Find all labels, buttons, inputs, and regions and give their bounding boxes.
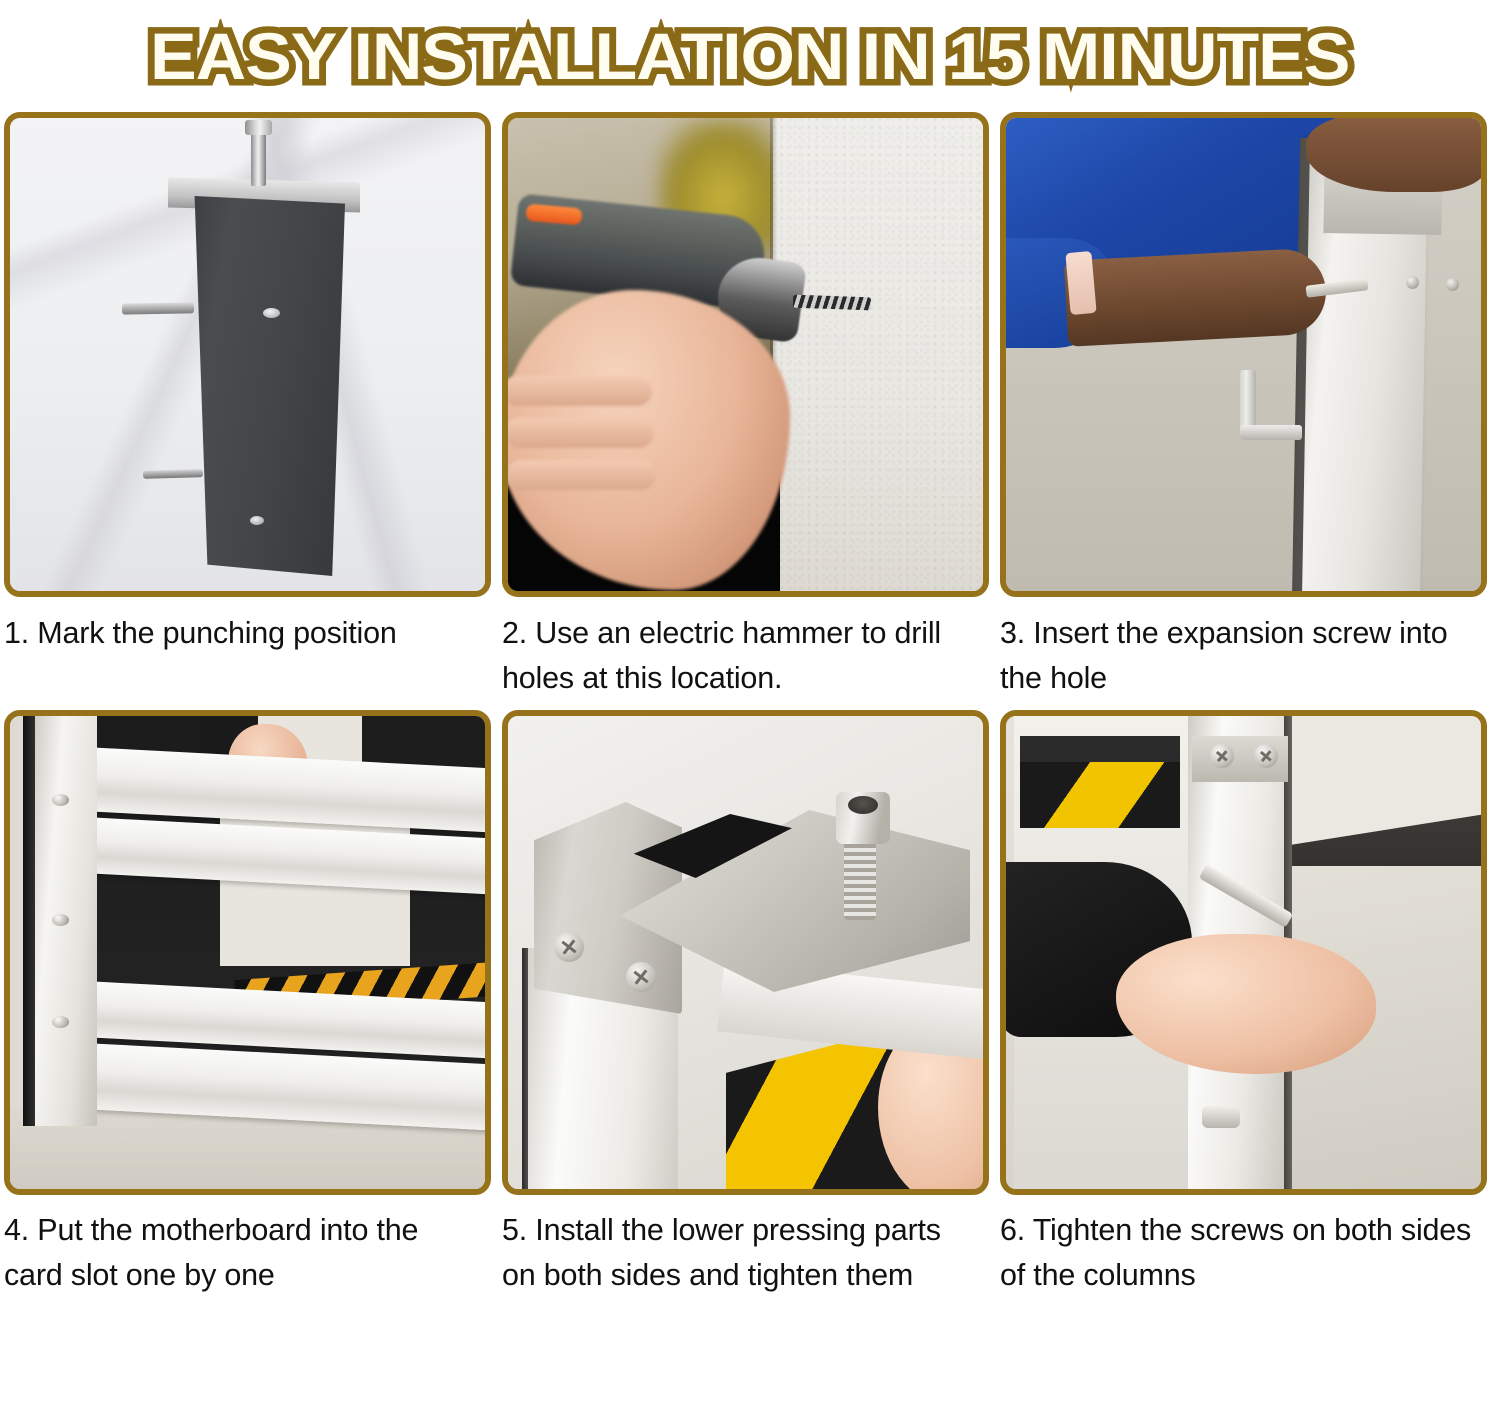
- column-screw-right: [1254, 744, 1278, 768]
- allen-key-on-floor: [1240, 370, 1256, 440]
- step-3-photo: [1006, 118, 1481, 591]
- step-6-caption: 6. Tighten the screws on both sides of t…: [1000, 1208, 1480, 1297]
- step-card-2: 2. Use an electric hammer to drill holes…: [502, 112, 997, 700]
- metal-pin-upper: [122, 302, 194, 314]
- finger-3: [508, 460, 656, 490]
- white-textured-wall: [773, 118, 983, 591]
- drill-bit: [793, 295, 871, 311]
- step-2-photo-frame: [502, 112, 989, 597]
- mark-hole-upper: [263, 308, 280, 318]
- metal-pin-lower: [143, 469, 203, 479]
- step-5-photo-frame: [502, 710, 989, 1195]
- plate-screw-left: [1406, 276, 1419, 289]
- bracket-screw-left: [554, 932, 584, 962]
- step-4-caption: 4. Put the motherboard into the card slo…: [4, 1208, 484, 1297]
- step-6-photo-frame: [1000, 710, 1487, 1195]
- bracket-screw-right: [626, 962, 656, 992]
- lower-column-screw: [1202, 1106, 1240, 1128]
- column-screw-2: [52, 914, 69, 926]
- step-3-caption: 3. Insert the expansion screw into the h…: [1000, 611, 1480, 700]
- finger-2: [508, 418, 654, 448]
- step-card-3: 3. Insert the expansion screw into the h…: [1000, 112, 1495, 700]
- step-1-caption: 1. Mark the punching position: [4, 611, 484, 656]
- bolt-socket-hole: [848, 796, 878, 814]
- step-3-photo-frame: [1000, 112, 1487, 597]
- threaded-bolt-shaft: [844, 840, 876, 920]
- hazard-stripe-tape: [1020, 762, 1180, 828]
- step-5-caption: 5. Install the lower pressing parts on b…: [502, 1208, 982, 1297]
- mark-hole-lower: [250, 516, 264, 525]
- step-6-photo: [1006, 716, 1481, 1189]
- step-card-4: 4. Put the motherboard into the card slo…: [4, 710, 499, 1297]
- step-2-caption: 2. Use an electric hammer to drill holes…: [502, 611, 982, 700]
- step-1-photo: [10, 118, 485, 591]
- column-screw-3: [52, 1016, 69, 1028]
- page-title: EASY INSTALLATION IN 15 MINUTES: [150, 23, 1349, 89]
- installation-steps-grid: 1. Mark the punching position 2. Use an …: [0, 112, 1500, 1297]
- step-card-5: 5. Install the lower pressing parts on b…: [502, 710, 997, 1297]
- step-2-photo: [508, 118, 983, 591]
- step-card-6: 6. Tighten the screws on both sides of t…: [1000, 710, 1495, 1297]
- worker-forearm: [1064, 247, 1328, 346]
- finger-1: [508, 376, 652, 406]
- step-1-photo-frame: [4, 112, 491, 597]
- column-screw-left: [1210, 744, 1234, 768]
- dark-column-body: [185, 196, 345, 576]
- step-4-photo-frame: [4, 710, 491, 1195]
- step-5-photo: [508, 716, 983, 1189]
- top-bolt: [251, 130, 266, 186]
- sleeve-cuff: [1065, 251, 1096, 315]
- step-4-photo: [10, 716, 485, 1189]
- title-bar: EASY INSTALLATION IN 15 MINUTES: [0, 0, 1500, 112]
- plate-screw-right: [1446, 278, 1459, 291]
- column-screw-1: [52, 794, 69, 806]
- step-card-1: 1. Mark the punching position: [4, 112, 499, 700]
